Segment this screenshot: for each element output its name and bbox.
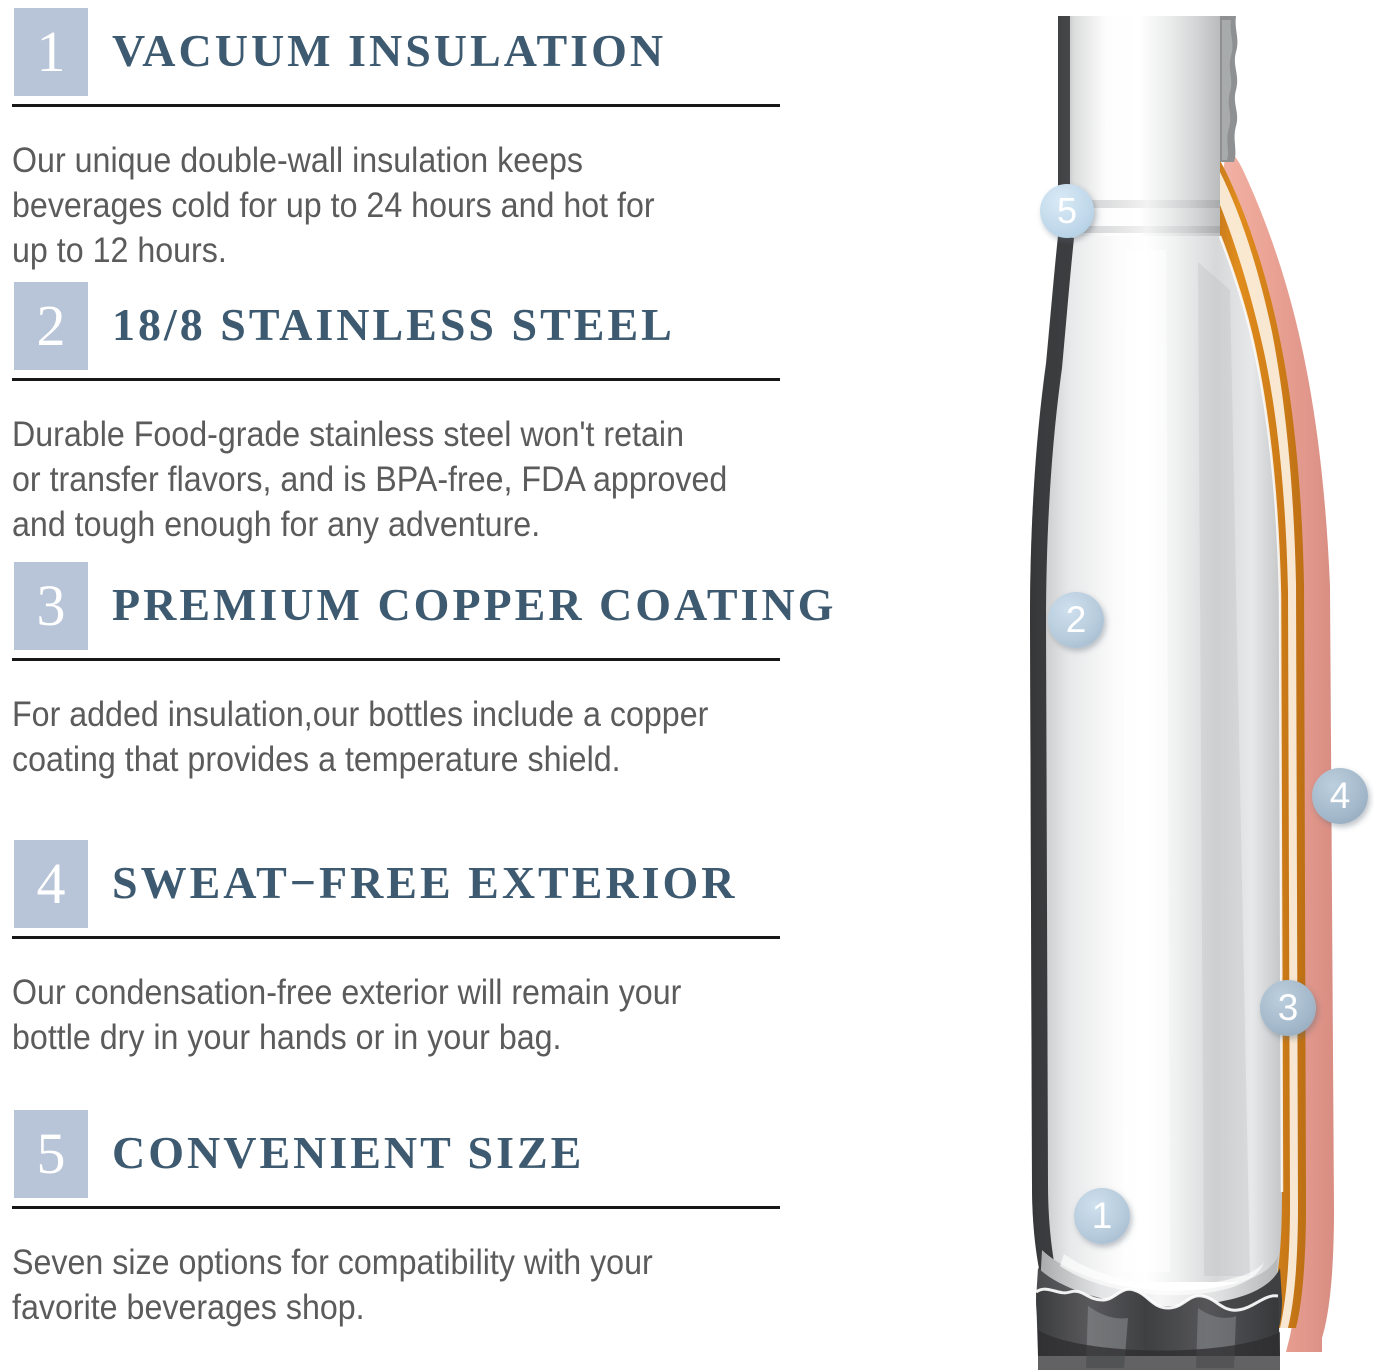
feature-item-4: 4 SWEAT−FREE EXTERIOR Our condensation-f… [0,840,880,928]
feature-divider-2 [12,378,780,381]
bottle-cutaway-illustration: 5 2 4 3 1 [930,0,1374,1370]
callout-marker-1-label: 1 [1074,1188,1130,1244]
feature-description-3: For added insulation,our bottles include… [12,692,776,782]
callout-marker-4-label: 4 [1312,768,1368,824]
feature-title-5: CONVENIENT SIZE [112,1122,584,1184]
body-specular-highlight [1122,250,1170,1272]
feature-header-5: 5 CONVENIENT SIZE [0,1110,880,1198]
feature-description-4: Our condensation-free exterior will rema… [12,970,776,1060]
callout-marker-1[interactable]: 1 [1074,1188,1130,1244]
feature-title-1: VACUUM INSULATION [112,20,666,82]
feature-header-2: 2 18/8 STAINLESS STEEL [0,282,880,370]
feature-divider-1 [12,104,780,107]
feature-item-5: 5 CONVENIENT SIZE Seven size options for… [0,1110,880,1198]
feature-description-5: Seven size options for compatibility wit… [12,1240,776,1330]
feature-divider-5 [12,1206,780,1209]
feature-number-badge-4: 4 [14,840,88,928]
feature-item-2: 2 18/8 STAINLESS STEEL Durable Food-grad… [0,282,880,370]
callout-marker-4[interactable]: 4 [1312,768,1368,824]
feature-number-badge-5: 5 [14,1110,88,1198]
feature-header-3: 3 PREMIUM COPPER COATING [0,562,880,650]
feature-title-2: 18/8 STAINLESS STEEL [112,294,675,356]
feature-header-4: 4 SWEAT−FREE EXTERIOR [0,840,880,928]
feature-number-badge-1: 1 [14,8,88,96]
feature-title-3: PREMIUM COPPER COATING [112,574,836,636]
bottle-svg [930,0,1374,1370]
feature-divider-3 [12,658,780,661]
feature-title-4: SWEAT−FREE EXTERIOR [112,852,738,914]
feature-header-1: 1 VACUUM INSULATION [0,8,880,96]
callout-marker-5[interactable]: 5 [1040,184,1094,238]
feature-number-badge-3: 3 [14,562,88,650]
feature-number-badge-2: 2 [14,282,88,370]
feature-list: 1 VACUUM INSULATION Our unique double-wa… [0,0,880,1370]
callout-marker-2-label: 2 [1048,592,1104,648]
callout-marker-2[interactable]: 2 [1048,592,1104,648]
feature-item-1: 1 VACUUM INSULATION Our unique double-wa… [0,8,880,96]
callout-marker-3-label: 3 [1260,980,1316,1036]
callout-marker-5-label: 5 [1040,184,1094,238]
callout-marker-3[interactable]: 3 [1260,980,1316,1036]
infographic-page: 1 VACUUM INSULATION Our unique double-wa… [0,0,1374,1370]
feature-divider-4 [12,936,780,939]
feature-item-3: 3 PREMIUM COPPER COATING For added insul… [0,562,880,650]
feature-description-1: Our unique double-wall insulation keeps … [12,138,776,273]
feature-description-2: Durable Food-grade stainless steel won't… [12,412,776,547]
